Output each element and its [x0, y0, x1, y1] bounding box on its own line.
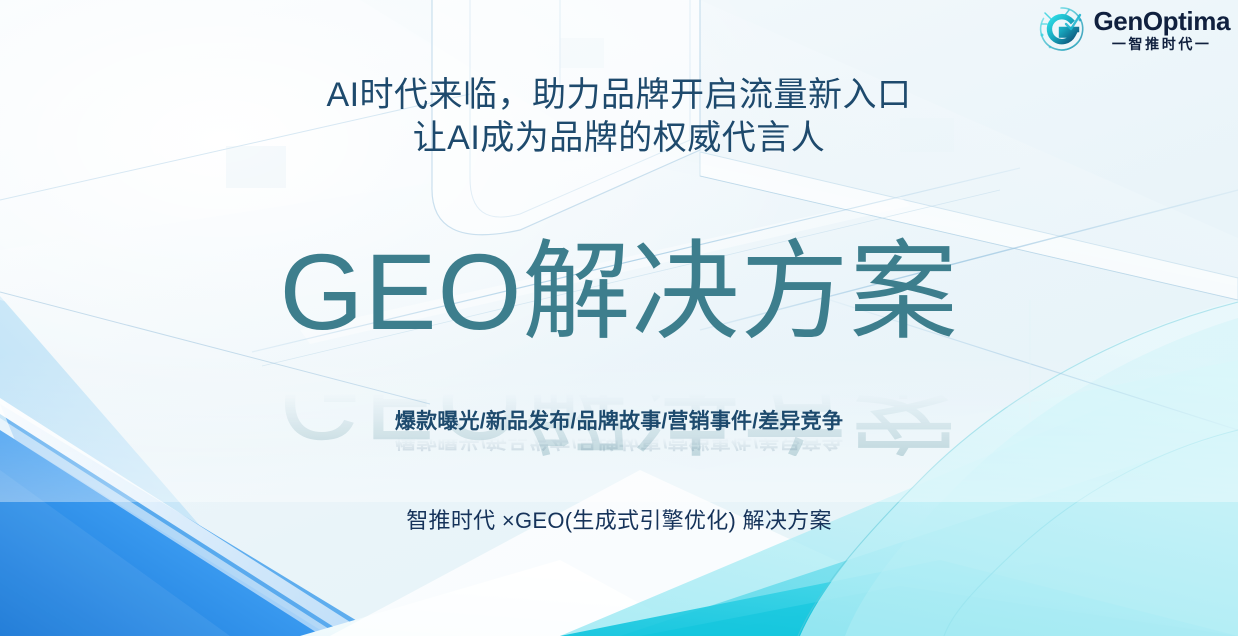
presentation-title-slide: GenOptima 一智推时代一 AI时代来临，助力品牌开启流量新入口 让AI成…: [0, 0, 1238, 636]
gen-optima-g-mark-icon: [1036, 4, 1086, 54]
headline-line-1: AI时代来临，助力品牌开启流量新入口: [326, 76, 911, 114]
slide-tagline: 爆款曝光/新品发布/品牌故事/营销事件/差异竞争: [0, 405, 1238, 435]
logo-wordmark: GenOptima 一智推时代一: [1093, 8, 1230, 51]
g-mark-svg: [1036, 4, 1086, 54]
slide-content: AI时代来临，助力品牌开启流量新入口 让AI成为品牌的权威代言人 GEO解决方案…: [0, 0, 1238, 636]
headline-line-2: 让AI成为品牌的权威代言人: [326, 117, 911, 160]
slide-headline: AI时代来临，助力品牌开启流量新入口 让AI成为品牌的权威代言人: [326, 74, 911, 160]
logo-brand-name: GenOptima: [1093, 8, 1230, 34]
brand-logo: GenOptima 一智推时代一: [1036, 4, 1230, 54]
page-title: GEO解决方案: [279, 238, 958, 346]
slide-footer-line: 智推时代 ×GEO(生成式引擎优化) 解决方案: [0, 503, 1238, 535]
page-title-reflection: GEO解决方案: [279, 348, 958, 456]
logo-brand-name-cn: 一智推时代一: [1112, 37, 1212, 51]
